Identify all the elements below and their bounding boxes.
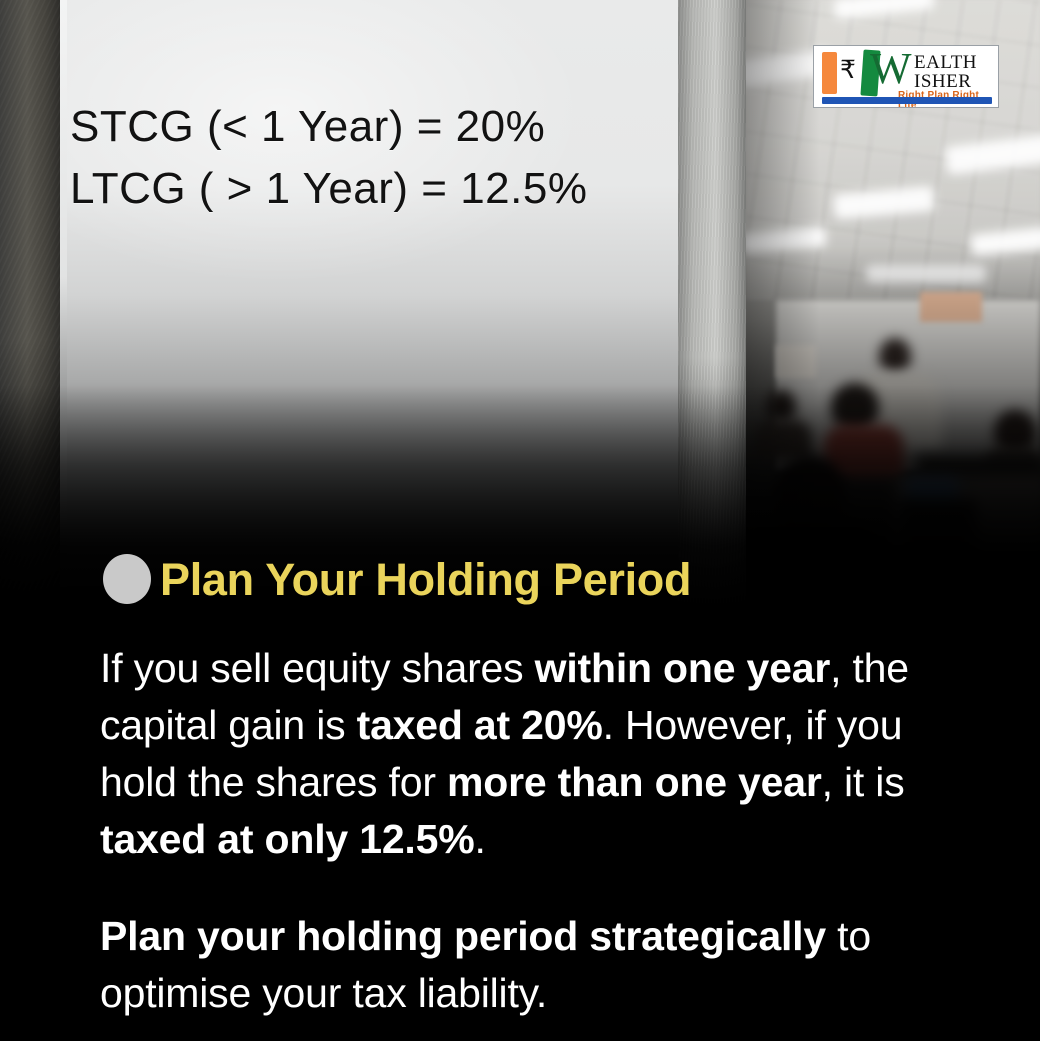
- whiteboard-text: STCG (< 1 Year) = 20% LTCG ( > 1 Year) =…: [70, 96, 587, 220]
- left-wall-texture: [0, 0, 60, 615]
- logo-word-isher: ISHER: [914, 72, 971, 91]
- p1-seg9: .: [474, 816, 485, 862]
- whiteboard: [60, 0, 685, 615]
- paragraph-1: If you sell equity shares within one yea…: [100, 640, 980, 868]
- logo-w-letter: W: [870, 47, 912, 91]
- office-pillar: [678, 0, 746, 615]
- wall-poster-1: [920, 292, 982, 322]
- p1-seg8-bold: taxed at only 12.5%: [100, 816, 474, 862]
- headline-row: Plan Your Holding Period: [0, 552, 1040, 612]
- photo-region: STCG (< 1 Year) = 20% LTCG ( > 1 Year) =…: [0, 0, 1040, 615]
- person-standing-head: [879, 338, 911, 374]
- bullet-circle-icon: [103, 554, 151, 604]
- p1-seg4-bold: taxed at 20%: [357, 702, 603, 748]
- body-text-block: If you sell equity shares within one yea…: [100, 640, 980, 1022]
- ceiling-lamp-7: [866, 265, 986, 283]
- p2-seg1-bold: Plan your holding period strategically: [100, 913, 826, 959]
- wealth-wisher-logo: ₹ W EALTH ISHER Right Plan Right Life: [813, 45, 999, 108]
- person-center-head: [831, 383, 879, 431]
- ltcg-line: LTCG ( > 1 Year) = 12.5%: [70, 158, 587, 220]
- p1-seg6-bold: more than one year: [447, 759, 822, 805]
- p1-seg2-bold: within one year: [535, 645, 830, 691]
- page-title: Plan Your Holding Period: [160, 552, 691, 608]
- logo-blue-bar: [822, 97, 992, 104]
- p1-seg1: If you sell equity shares: [100, 645, 535, 691]
- wall-poster-2: [776, 345, 816, 378]
- person-left-head: [766, 390, 796, 423]
- stcg-line: STCG (< 1 Year) = 20%: [70, 96, 587, 158]
- whiteboard-left-edge: [60, 0, 67, 615]
- infographic-canvas: STCG (< 1 Year) = 20% LTCG ( > 1 Year) =…: [0, 0, 1040, 1041]
- logo-orange-bar-icon: [822, 52, 837, 94]
- rupee-icon: ₹: [840, 58, 856, 83]
- whiteboard-sheen: [60, 0, 685, 615]
- paragraph-2: Plan your holding period strategically t…: [100, 908, 980, 1022]
- p1-seg7: , it is: [822, 759, 905, 805]
- person-left-body: [754, 420, 812, 460]
- logo-word-ealth: EALTH: [914, 53, 977, 72]
